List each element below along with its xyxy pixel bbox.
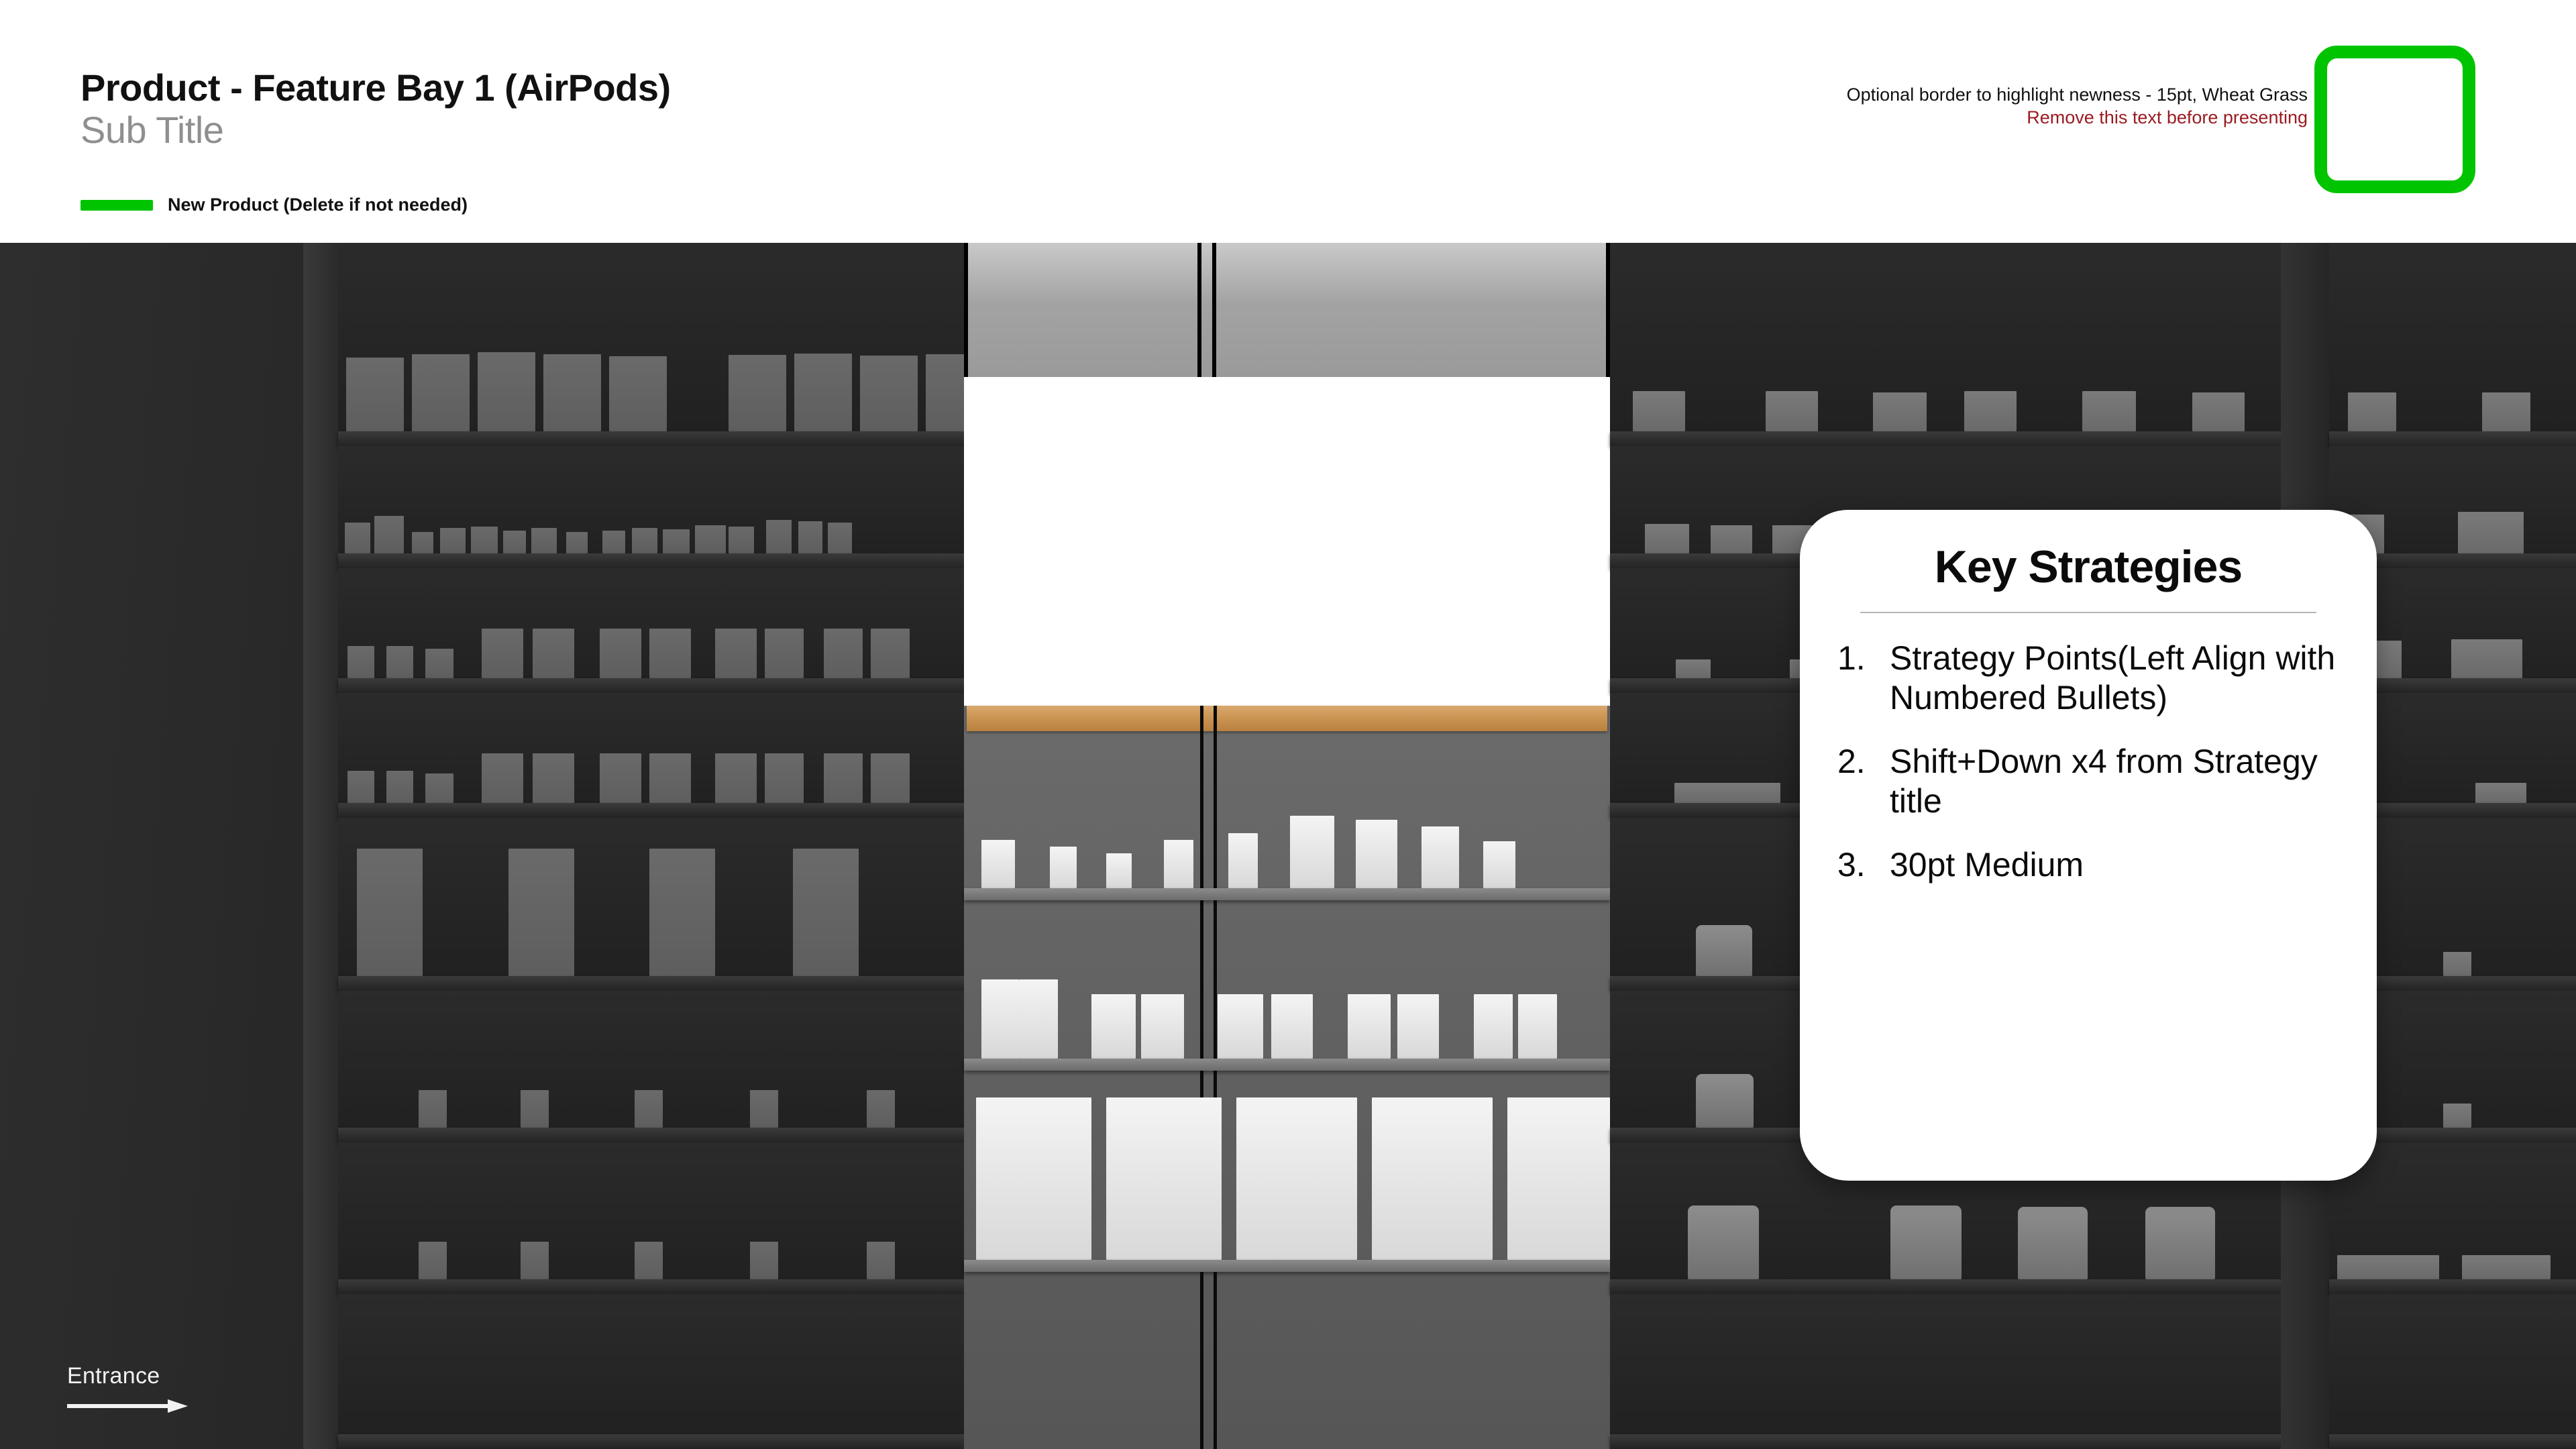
list-item: 2. Shift+Down x4 from Strategy title [1837, 742, 2339, 821]
entrance-marker: Entrance [67, 1363, 188, 1418]
shelf [964, 900, 1610, 1071]
new-product-border-sample [2314, 46, 2475, 193]
page-subtitle: Sub Title [80, 109, 671, 152]
page-title: Product - Feature Bay 1 (AirPods) [80, 67, 671, 109]
shelf [2329, 1142, 2576, 1294]
shelf [338, 818, 964, 991]
arrow-right-icon [67, 1397, 188, 1415]
shelf [338, 991, 964, 1142]
presenter-notes: Optional border to highlight newness - 1… [1847, 84, 2308, 129]
note-border-hint: Optional border to highlight newness - 1… [1847, 84, 2308, 107]
shelf [338, 1142, 964, 1294]
feature-bay-header-panel [964, 243, 1610, 377]
shelf [338, 446, 964, 568]
shelf [2329, 243, 2576, 446]
planogram-slide: Product - Feature Bay 1 (AirPods) Sub Ti… [0, 0, 2576, 1449]
shelf [964, 1071, 1610, 1272]
list-item: 1. Strategy Points(Left Align with Numbe… [1837, 639, 2339, 718]
title-block: Product - Feature Bay 1 (AirPods) Sub Ti… [80, 67, 671, 151]
list-item-number: 3. [1837, 845, 1890, 885]
list-item-number: 2. [1837, 742, 1890, 782]
shelf [338, 1294, 964, 1449]
key-strategies-divider [1860, 612, 2316, 613]
left-wall-panel [0, 243, 303, 1449]
key-strategies-title: Key Strategies [1837, 541, 2339, 593]
shelf [338, 568, 964, 693]
shelf [964, 731, 1610, 900]
new-product-legend: New Product (Delete if not needed) [80, 195, 468, 215]
feature-bay-1 [964, 243, 1610, 1449]
entrance-label: Entrance [67, 1363, 188, 1389]
wood-trim-rail [967, 706, 1607, 731]
shelf [1610, 243, 2281, 446]
shelf [2329, 1294, 2576, 1449]
key-strategies-list: 1. Strategy Points(Left Align with Numbe… [1837, 639, 2339, 885]
shelf [338, 693, 964, 818]
shelf [338, 243, 964, 446]
feature-bay-shelf-block [964, 706, 1610, 1449]
list-item-number: 1. [1837, 639, 1890, 678]
left-endcap-post [303, 243, 338, 1449]
shelf [1610, 1294, 2281, 1449]
list-item: 3. 30pt Medium [1837, 845, 2339, 885]
list-item-text: Strategy Points(Left Align with Numbered… [1890, 639, 2339, 718]
left-bay-group [338, 243, 964, 1449]
list-item-text: Shift+Down x4 from Strategy title [1890, 742, 2339, 821]
new-product-swatch [80, 200, 153, 211]
feature-bay-graphic-panel [964, 377, 1610, 706]
feature-bay-base [964, 1272, 1610, 1449]
new-product-legend-label: New Product (Delete if not needed) [168, 195, 468, 215]
key-strategies-card: Key Strategies 1. Strategy Points(Left A… [1800, 510, 2377, 1181]
slide-header: Product - Feature Bay 1 (AirPods) Sub Ti… [0, 0, 2576, 243]
list-item-text: 30pt Medium [1890, 845, 2084, 885]
note-remove-warning: Remove this text before presenting [1847, 107, 2308, 129]
